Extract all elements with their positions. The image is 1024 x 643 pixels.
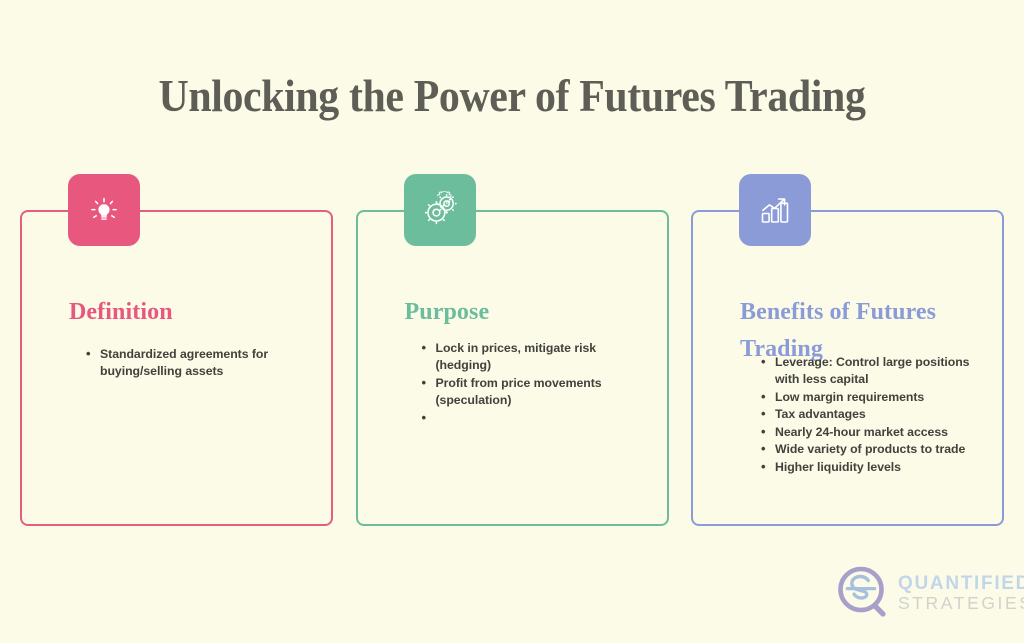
- logo-line-strategies: STRATEGIES: [898, 593, 1024, 613]
- magnifier-s-logo-icon: [832, 562, 894, 624]
- card-benefits-badge: [739, 174, 811, 246]
- bar-chart-growth-icon: [755, 191, 795, 229]
- lightbulb-icon: [85, 191, 123, 229]
- card-definition-badge: [68, 174, 140, 246]
- page-title: Unlocking the Power of Futures Trading: [36, 72, 988, 122]
- card-purpose-bullets: Lock in prices, mitigate risk (hedging) …: [414, 340, 649, 410]
- card-purpose-heading: Purpose: [405, 294, 643, 331]
- infographic-page: Unlocking the Power of Futures Trading D…: [0, 0, 1024, 643]
- list-item: Low margin requirements: [775, 389, 984, 406]
- list-item: Nearly 24-hour market access: [775, 424, 984, 441]
- logo-wordmark: QUANTIFIED STRATEGIES: [898, 572, 1024, 613]
- card-benefits-bullets: Leverage: Control large positions with l…: [753, 354, 984, 476]
- gears-icon: [420, 191, 460, 229]
- list-item: Tax advantages: [775, 406, 984, 423]
- list-item: Higher liquidity levels: [775, 459, 984, 476]
- card-definition: Definition Standardized agreements for b…: [20, 210, 333, 526]
- card-benefits: Benefits of Futures Trading Leverage: Co…: [691, 210, 1004, 526]
- list-item: Lock in prices, mitigate risk (hedging): [436, 340, 649, 375]
- card-purpose-badge: [404, 174, 476, 246]
- cards-row: Definition Standardized agreements for b…: [20, 210, 1004, 528]
- logo-line-quantified: QUANTIFIED: [898, 574, 1024, 593]
- list-item: Standardized agreements for buying/selli…: [100, 346, 313, 381]
- card-definition-bullets: Standardized agreements for buying/selli…: [78, 346, 313, 381]
- list-item: Profit from price movements (speculation…: [436, 375, 649, 410]
- card-definition-heading: Definition: [69, 294, 307, 331]
- list-item: Leverage: Control large positions with l…: [775, 354, 984, 389]
- brand-logo: QUANTIFIED STRATEGIES: [832, 560, 1012, 626]
- list-item: Wide variety of products to trade: [775, 441, 984, 458]
- card-purpose: Purpose Lock in prices, mitigate risk (h…: [356, 210, 669, 526]
